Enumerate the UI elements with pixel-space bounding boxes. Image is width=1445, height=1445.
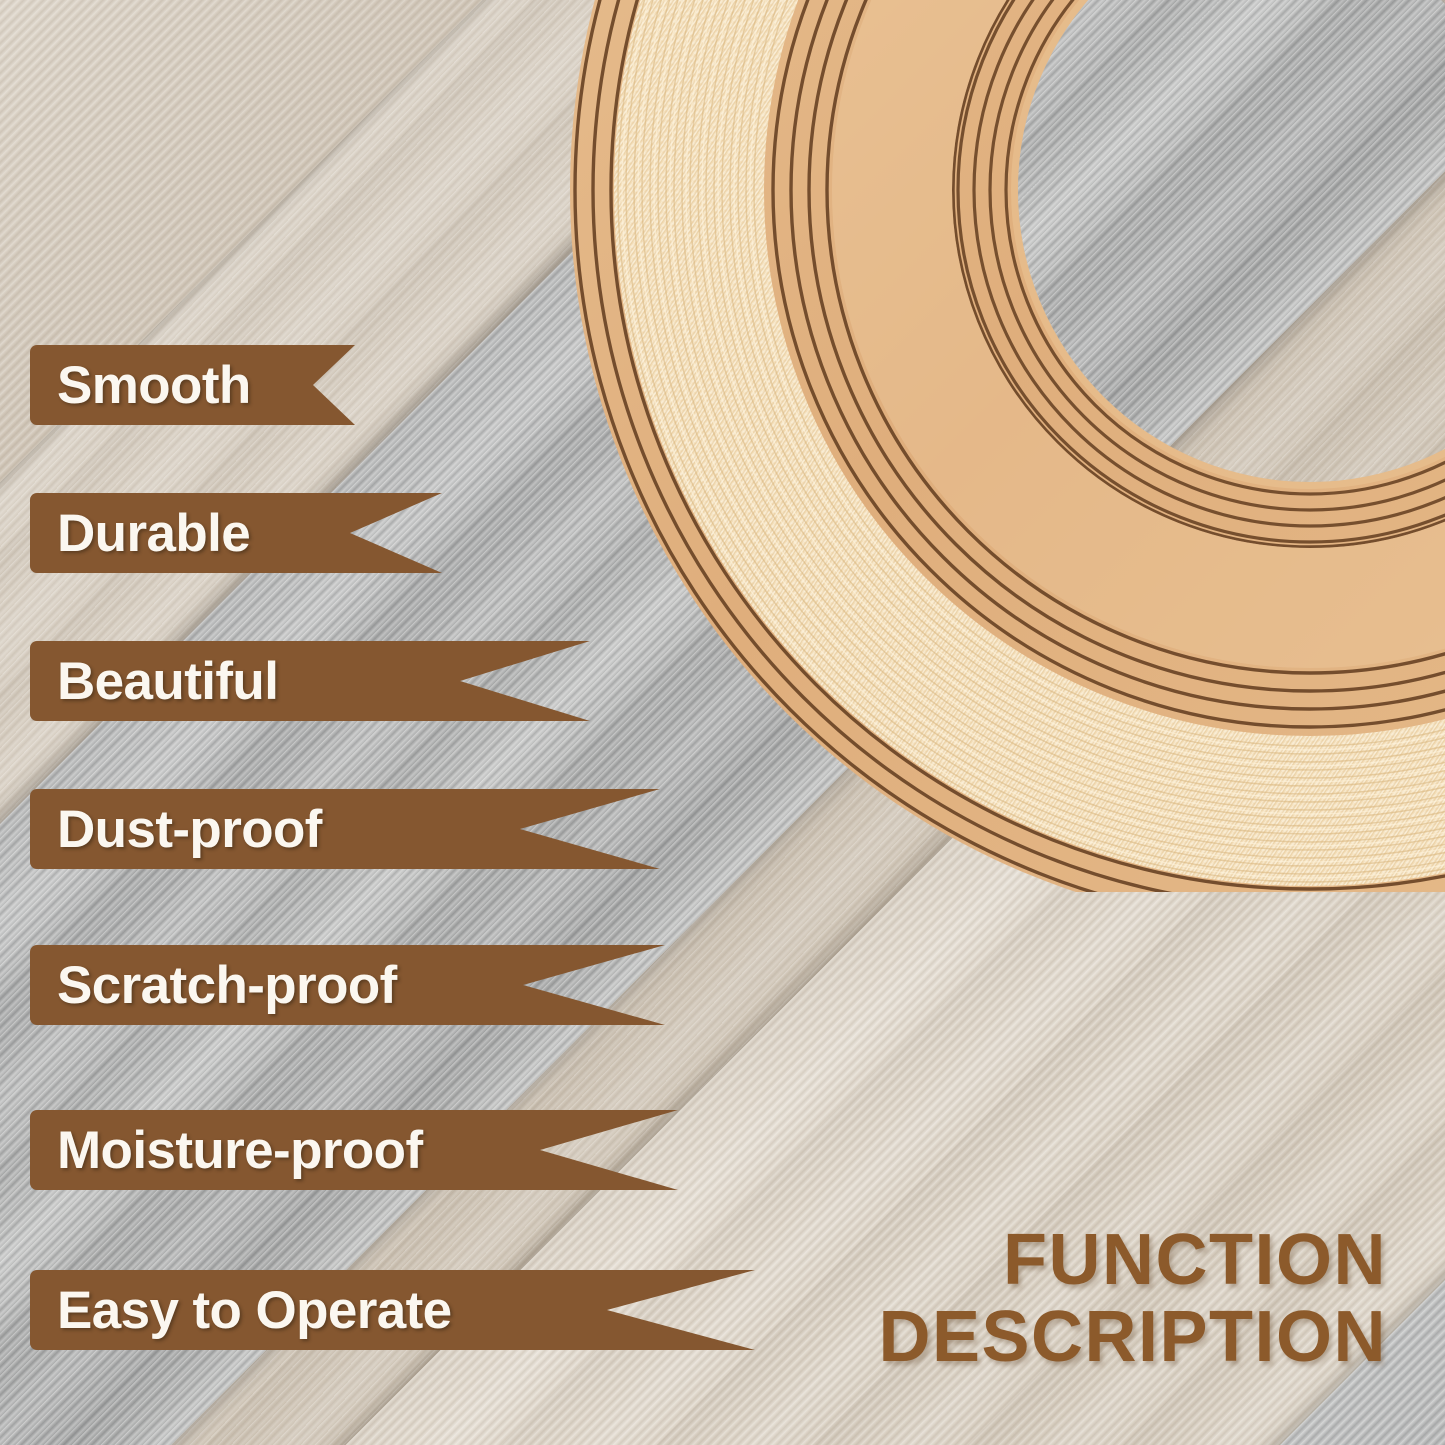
feature-ribbon-label: Durable: [30, 507, 250, 560]
feature-ribbon-label: Moisture-proof: [30, 1124, 423, 1177]
feature-ribbon-label: Beautiful: [30, 655, 278, 708]
feature-ribbon-label: Easy to Operate: [30, 1284, 452, 1337]
product-feature-graphic: SmoothDurableBeautifulDust-proofScratch-…: [0, 0, 1445, 1445]
feature-ribbon-label: Scratch-proof: [30, 959, 397, 1012]
page-title: FUNCTION DESCRIPTION: [878, 1222, 1387, 1375]
title-line-2: DESCRIPTION: [878, 1299, 1387, 1375]
title-line-1: FUNCTION: [878, 1222, 1387, 1298]
feature-ribbon-label: Smooth: [30, 359, 251, 412]
feature-ribbon-label: Dust-proof: [30, 803, 322, 856]
coil-center-hole: [1018, 0, 1445, 482]
feature-ribbon: Smooth: [30, 345, 355, 425]
